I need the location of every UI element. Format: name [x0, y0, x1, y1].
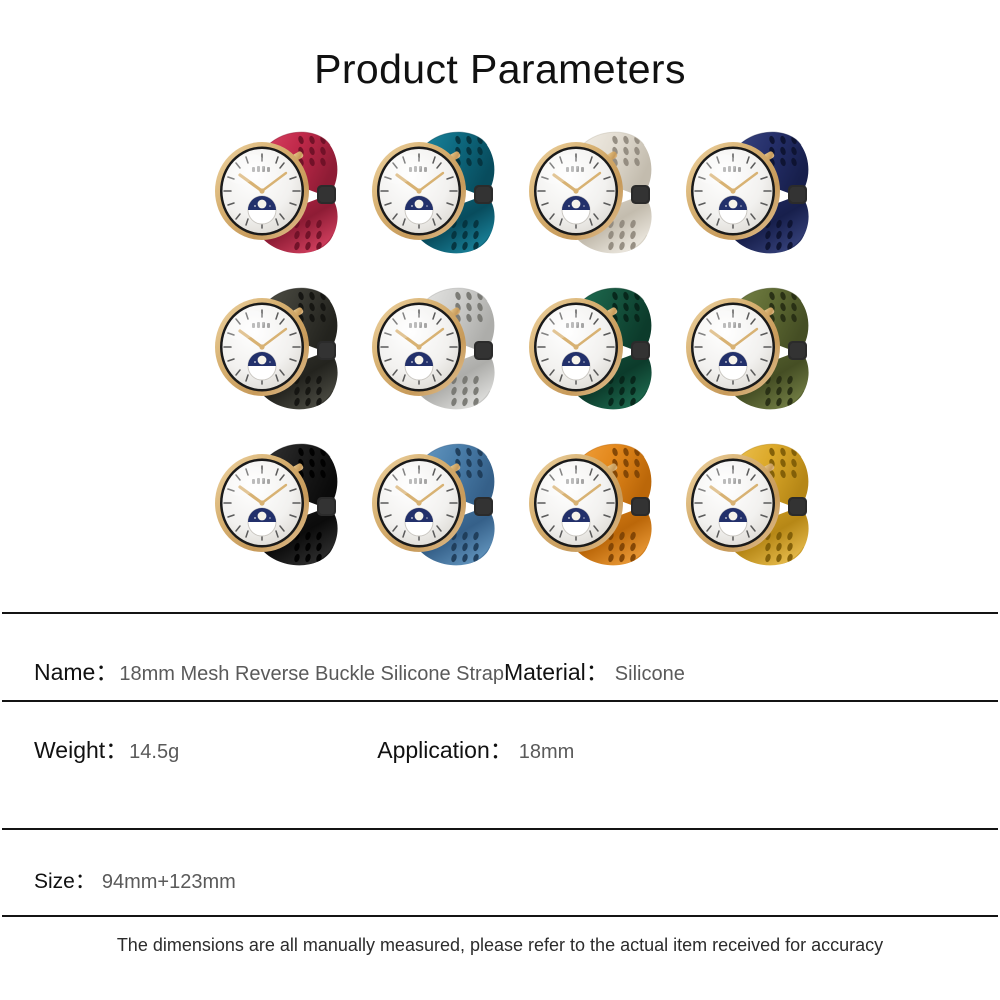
watch-cell[interactable]	[510, 268, 667, 424]
spec-value-weight: 14.5g	[129, 741, 179, 764]
watch-steel-blue[interactable]	[357, 427, 507, 577]
spec-field-size: Size： 94mm+123mm	[34, 865, 236, 895]
spec-row-name: Name： 18mm Mesh Reverse Buckle Silicone …	[0, 648, 1000, 692]
moonphase-subdial	[248, 508, 276, 536]
buckle-block	[631, 341, 650, 360]
buckle-block	[474, 497, 493, 516]
spec-label-name: Name：	[34, 653, 118, 687]
spec-field-application: Application： 18mm	[377, 731, 574, 765]
buckle-block	[788, 341, 807, 360]
spec-label-weight: Weight：	[34, 731, 128, 765]
moonphase-subdial	[405, 352, 433, 380]
spec-row-weight: Weight： 14.5g Application： 18mm	[0, 726, 1000, 770]
moonphase-subdial	[562, 352, 590, 380]
moonphase-subdial	[248, 196, 276, 224]
buckle-block	[631, 185, 650, 204]
spec-value-material: Silicone	[615, 663, 685, 686]
watch-cell[interactable]	[196, 112, 353, 268]
spec-field-name: Name： 18mm Mesh Reverse Buckle Silicone …	[34, 653, 504, 687]
moonphase-subdial	[248, 352, 276, 380]
moonphase-subdial	[719, 508, 747, 536]
table-divider-2	[2, 828, 998, 830]
watch-cell[interactable]	[196, 268, 353, 424]
watch-cell[interactable]	[353, 112, 510, 268]
watch-dark-green[interactable]	[514, 271, 664, 421]
moonphase-subdial	[719, 196, 747, 224]
buckle-block	[317, 497, 336, 516]
watch-navy[interactable]	[671, 115, 821, 265]
moonphase-subdial	[405, 508, 433, 536]
spec-value-size: 94mm+123mm	[102, 871, 236, 894]
buckle-block	[317, 341, 336, 360]
spec-row-size: Size： 94mm+123mm	[0, 858, 1000, 902]
buckle-block	[788, 497, 807, 516]
watch-starlight[interactable]	[514, 115, 664, 265]
watch-cell[interactable]	[196, 424, 353, 580]
buckle-block	[474, 185, 493, 204]
watch-cell[interactable]	[353, 268, 510, 424]
watch-black[interactable]	[200, 427, 350, 577]
disclaimer-note: The dimensions are all manually measured…	[0, 933, 1000, 957]
watch-color-gallery	[196, 112, 824, 592]
table-divider-1	[2, 700, 998, 702]
watch-dark-olive[interactable]	[200, 271, 350, 421]
watch-mustard[interactable]	[671, 427, 821, 577]
watch-cell[interactable]	[667, 112, 824, 268]
watch-red[interactable]	[200, 115, 350, 265]
spec-label-application: Application：	[377, 731, 513, 765]
moonphase-subdial	[719, 352, 747, 380]
moonphase-subdial	[562, 508, 590, 536]
product-parameters-page: Product Parameters	[0, 0, 1000, 1000]
spec-value-application: 18mm	[519, 741, 575, 764]
spec-label-material: Material：	[504, 653, 609, 687]
watch-orange[interactable]	[514, 427, 664, 577]
moonphase-subdial	[405, 196, 433, 224]
spec-field-weight: Weight： 14.5g	[34, 731, 179, 765]
buckle-block	[474, 341, 493, 360]
watch-cell[interactable]	[353, 424, 510, 580]
watch-army-green[interactable]	[671, 271, 821, 421]
watch-teal[interactable]	[357, 115, 507, 265]
watch-cell[interactable]	[510, 424, 667, 580]
spec-label-size: Size：	[34, 865, 96, 895]
buckle-block	[317, 185, 336, 204]
page-title: Product Parameters	[0, 44, 1000, 94]
watch-grey[interactable]	[357, 271, 507, 421]
buckle-block	[631, 497, 650, 516]
watch-cell[interactable]	[510, 112, 667, 268]
watch-cell[interactable]	[667, 268, 824, 424]
buckle-block	[788, 185, 807, 204]
watch-cell[interactable]	[667, 424, 824, 580]
moonphase-subdial	[562, 196, 590, 224]
table-divider-bottom	[2, 915, 998, 917]
spec-value-name: 18mm Mesh Reverse Buckle Silicone Strap	[119, 663, 504, 686]
table-divider-top	[2, 612, 998, 614]
spec-field-material: Material： Silicone	[504, 653, 685, 687]
